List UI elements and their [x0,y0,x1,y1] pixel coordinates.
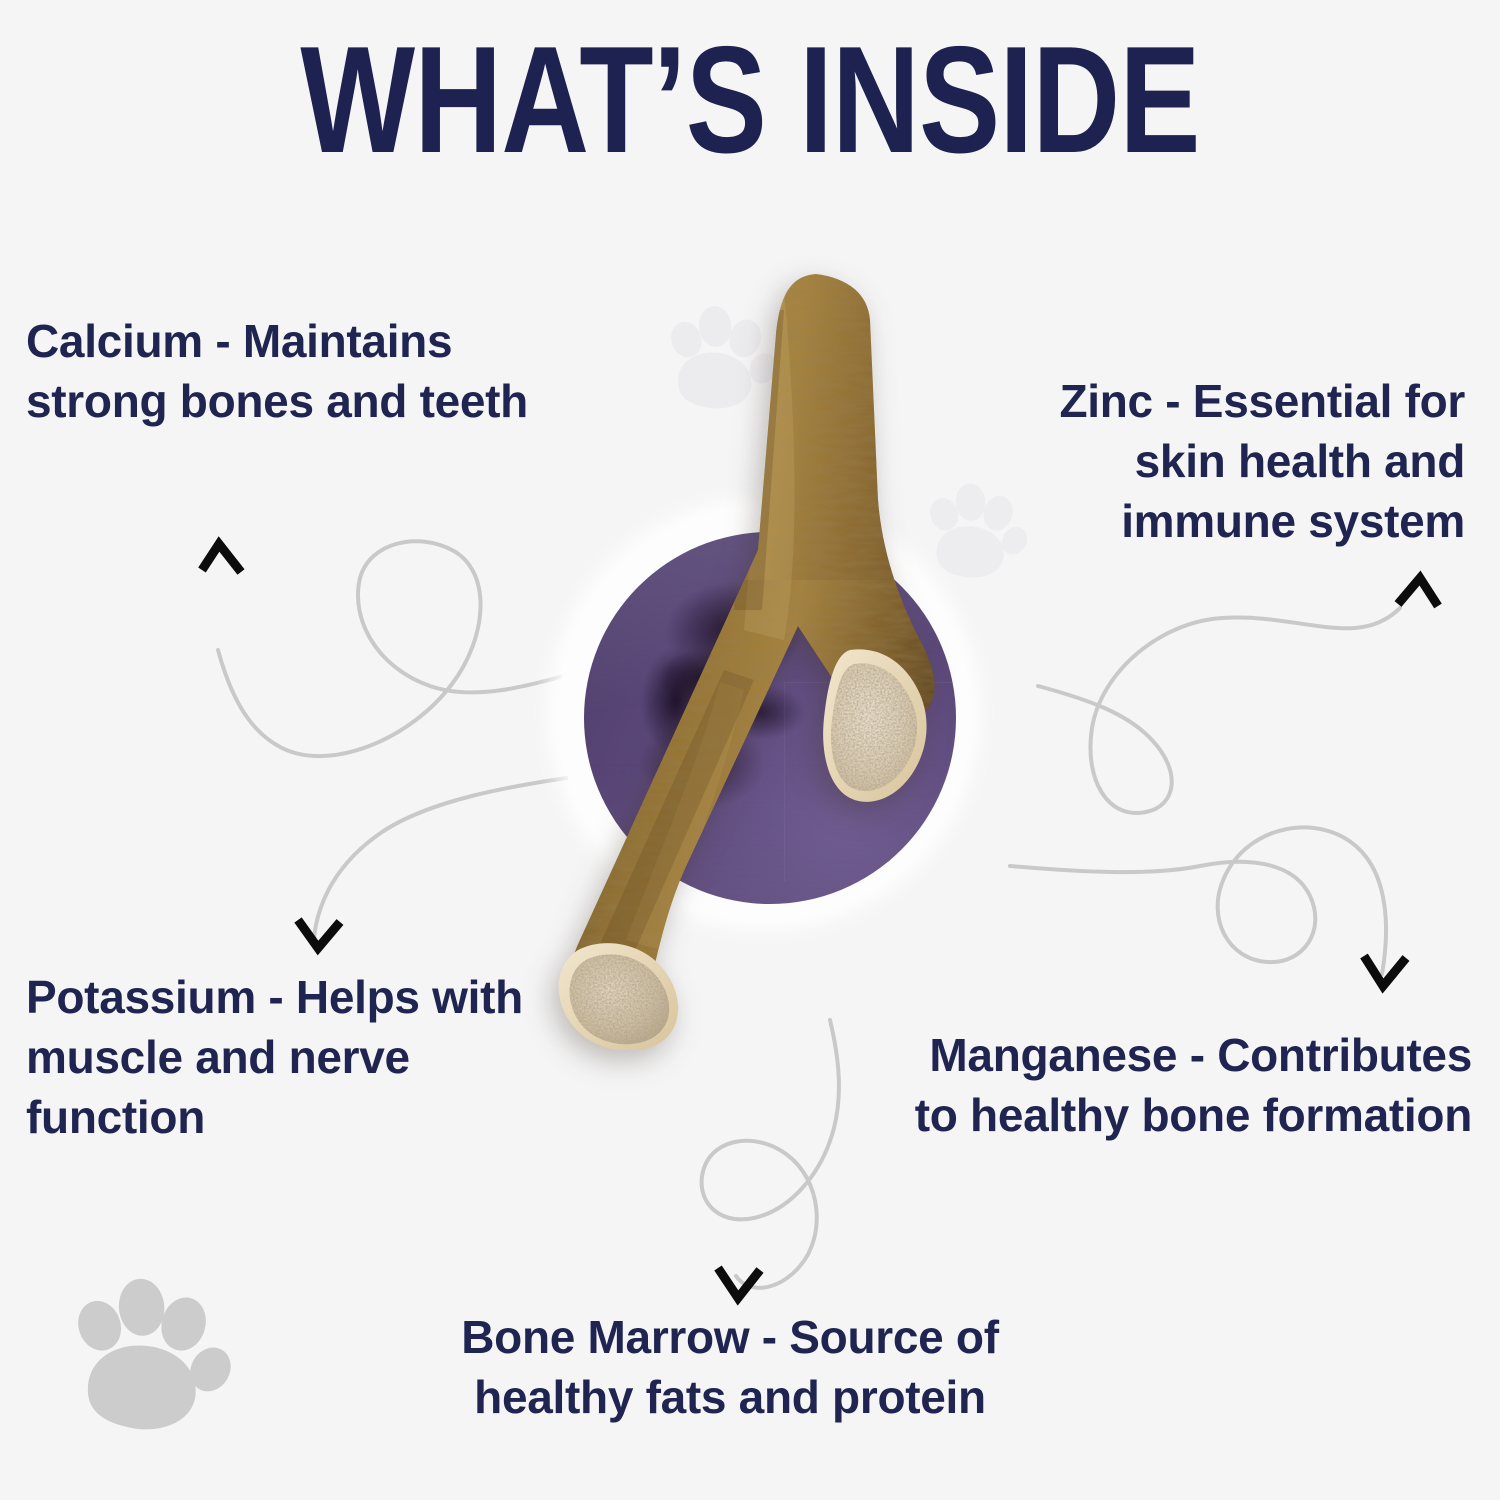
product-media [548,250,978,1050]
callout-manganese: Manganese - Contributes to healthy bone … [900,1026,1472,1146]
arrow-to-calcium [202,541,590,756]
callout-bone-marrow: Bone Marrow - Source of healthy fats and… [380,1308,1080,1428]
callout-potassium: Potassium - Helps with muscle and nerve … [26,968,546,1147]
infographic-canvas: WHAT’S INSIDE [0,0,1500,1500]
arrow-to-potassium [298,776,580,948]
callout-calcium: Calcium - Maintains strong bones and tee… [26,312,586,432]
arrow-to-bone-marrow [702,1020,839,1298]
antler-chew-image [548,250,978,1050]
callout-zinc: Zinc - Essential for skin health and imm… [985,372,1465,551]
arrow-to-zinc [1038,578,1438,813]
arrow-to-manganese [1010,827,1406,986]
marrow-end-cut [559,943,678,1050]
